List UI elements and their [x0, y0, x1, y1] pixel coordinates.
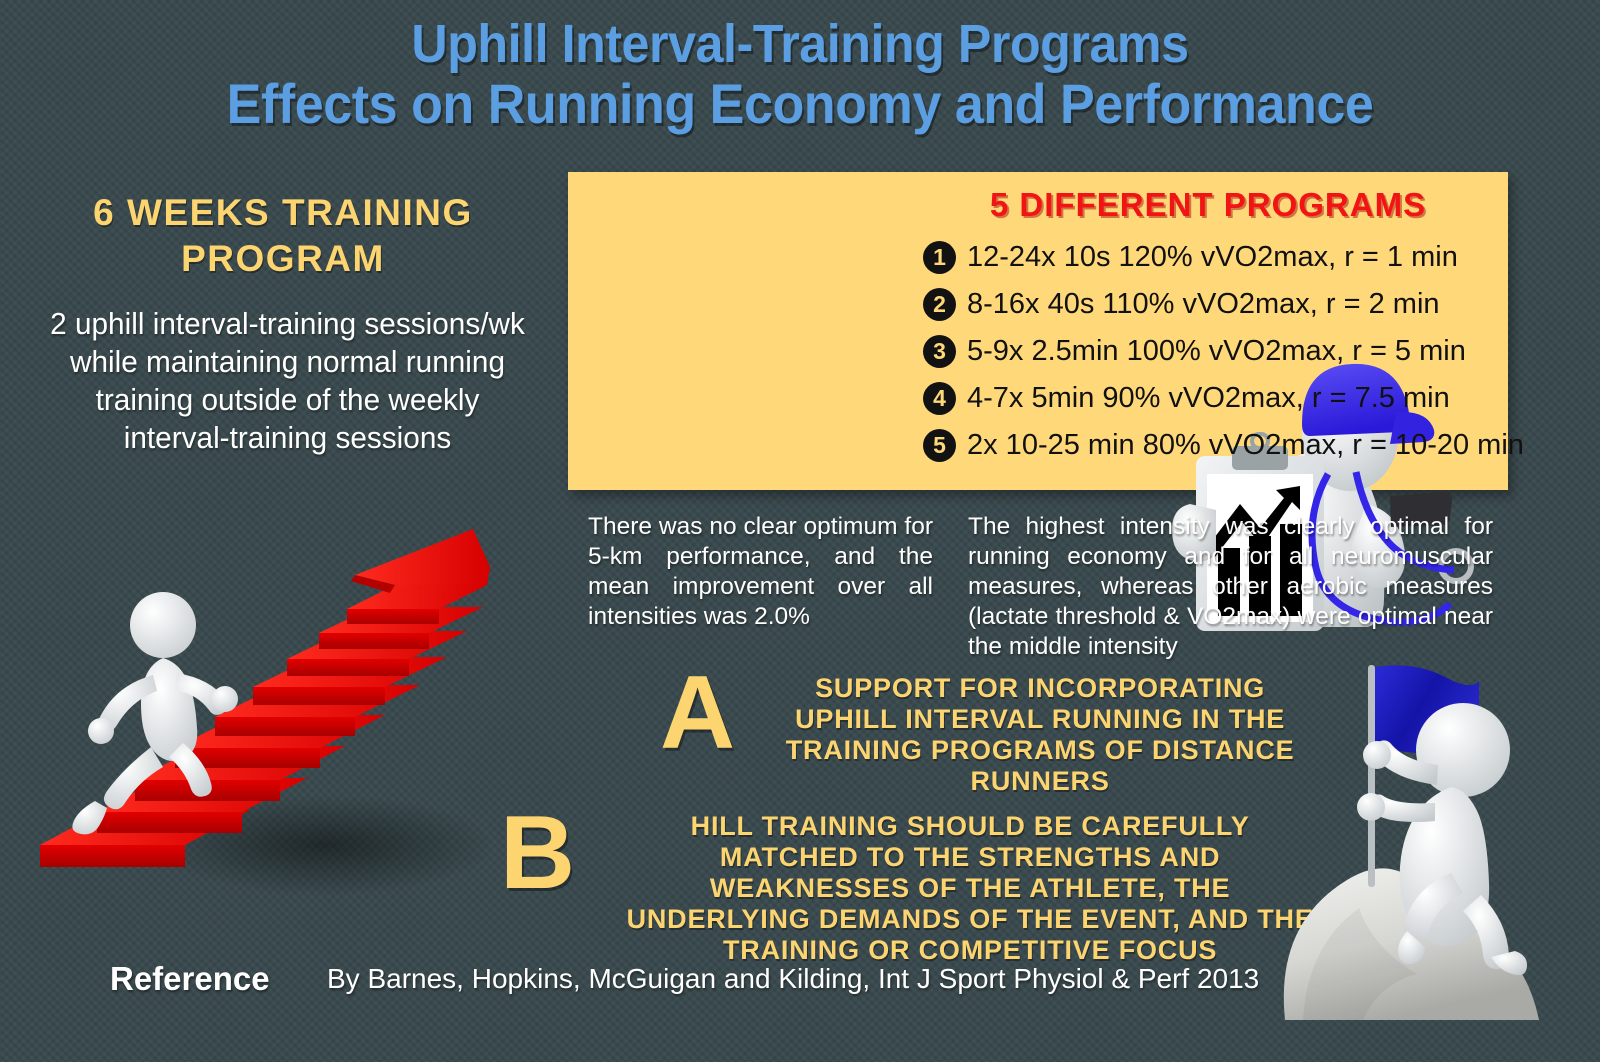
figure-planting-blue-flag-on-rock-icon — [1255, 635, 1585, 1020]
list-item: 2 8-16x 40s 110% vVO2max, r = 2 min — [923, 281, 1503, 328]
list-item-text: 2x 10-25 min 80% vVO2max, r = 10-20 min — [967, 429, 1524, 462]
reference-label: Reference — [110, 960, 270, 998]
panel-title: 5 DIFFERENT PROGRAMS — [928, 186, 1488, 224]
list-item-number: 5 — [923, 429, 956, 462]
training-program-heading: 6 WEEKS TRAINING PROGRAM — [48, 190, 518, 282]
conclusion-b-letter: B — [500, 805, 575, 901]
reference-text: By Barnes, Hopkins, McGuigan and Kilding… — [327, 963, 1259, 995]
conclusion-b-text: HILL TRAINING SHOULD BE CAREFULLY MATCHE… — [625, 805, 1315, 966]
programs-panel: 5 DIFFERENT PROGRAMS 1 12-24x 10s 120% v… — [568, 172, 1508, 490]
training-program-body: 2 uphill interval-training sessions/wk w… — [50, 305, 525, 457]
list-item-text: 5-9x 2.5min 100% vVO2max, r = 5 min — [967, 335, 1466, 368]
list-item-number: 4 — [923, 382, 956, 415]
finding-performance: There was no clear optimum for 5-km perf… — [588, 512, 933, 632]
list-item: 4 4-7x 5min 90% vVO2max, r = 7.5 min — [923, 375, 1503, 422]
conclusion-a-letter: A — [660, 665, 735, 761]
list-item-text: 8-16x 40s 110% vVO2max, r = 2 min — [967, 288, 1440, 321]
list-item-number: 2 — [923, 288, 956, 321]
conclusion-b: B HILL TRAINING SHOULD BE CAREFULLY MATC… — [500, 805, 1315, 966]
programs-list: 1 12-24x 10s 120% vVO2max, r = 1 min 2 8… — [923, 234, 1503, 469]
list-item: 3 5-9x 2.5min 100% vVO2max, r = 5 min — [923, 328, 1503, 375]
list-item-number: 1 — [923, 241, 956, 274]
title-line-1: Uphill Interval-Training Programs — [56, 14, 1544, 74]
list-item-text: 4-7x 5min 90% vVO2max, r = 7.5 min — [967, 382, 1450, 415]
list-item-number: 3 — [923, 335, 956, 368]
list-item: 5 2x 10-25 min 80% vVO2max, r = 10-20 mi… — [923, 422, 1503, 469]
list-item-text: 12-24x 10s 120% vVO2max, r = 1 min — [967, 241, 1458, 274]
title-line-2: Effects on Running Economy and Performan… — [56, 74, 1544, 134]
conclusion-a: A SUPPORT FOR INCORPORATING UPHILL INTER… — [660, 665, 1300, 797]
list-item: 1 12-24x 10s 120% vVO2max, r = 1 min — [923, 234, 1503, 281]
conclusion-a-text: SUPPORT FOR INCORPORATING UPHILL INTERVA… — [780, 665, 1300, 797]
red-ascending-stairs-arrow-with-runner-icon — [35, 515, 490, 915]
page-title: Uphill Interval-Training Programs Effect… — [0, 14, 1600, 134]
infographic-poster: Uphill Interval-Training Programs Effect… — [0, 0, 1600, 1062]
